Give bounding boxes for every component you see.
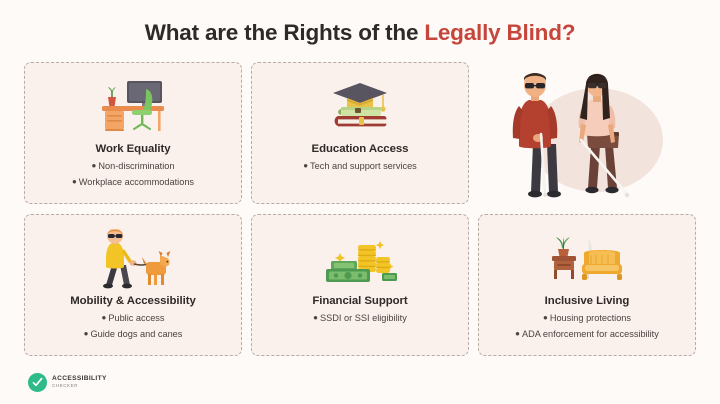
bullet-item: ●Guide dogs and canes	[33, 328, 233, 341]
bullet-text: Workplace accommodations	[79, 177, 194, 187]
card-bullets: ●Housing protections ●ADA enforcement fo…	[487, 312, 687, 345]
card-bullets: ●Public access ●Guide dogs and canes	[33, 312, 233, 345]
armchair-lamp-plant-icon	[544, 227, 630, 289]
bullet-text: Public access	[108, 313, 164, 323]
bullet-item: ●Public access	[33, 312, 233, 325]
bullet-dot: ●	[92, 160, 97, 172]
card-title: Education Access	[312, 143, 409, 155]
card-inclusive-living[interactable]: Inclusive Living ●Housing protections ●A…	[478, 214, 696, 356]
bullet-dot: ●	[303, 160, 308, 172]
bullet-item: ●Non-discrimination	[33, 160, 233, 173]
blind-couple-with-canes-illustration	[478, 62, 696, 204]
brand-logo[interactable]: ACCESSIBILITY CHECKER	[28, 373, 107, 392]
bullet-text: Tech and support services	[310, 161, 417, 171]
page-title-container: What are the Rights of the Legally Blind…	[0, 20, 720, 46]
check-circle-icon	[28, 373, 47, 392]
bullet-text: Housing protections	[550, 313, 631, 323]
bullet-item: ●Tech and support services	[260, 160, 460, 173]
infographic-page: What are the Rights of the Legally Blind…	[0, 0, 720, 404]
graduation-cap-books-icon	[325, 75, 395, 137]
card-bullets: ●SSDI or SSI eligibility	[260, 312, 460, 328]
bullet-dot: ●	[72, 176, 77, 188]
money-coins-icon	[318, 227, 402, 289]
bullet-dot: ●	[543, 312, 548, 324]
card-title: Work Equality	[95, 143, 170, 155]
bullet-dot: ●	[313, 312, 318, 324]
bullet-item: ●SSDI or SSI eligibility	[260, 312, 460, 325]
bullet-dot: ●	[515, 328, 520, 340]
card-education-access[interactable]: Education Access ●Tech and support servi…	[251, 62, 469, 204]
bullet-text: Non-discrimination	[98, 161, 174, 171]
card-bullets: ●Tech and support services	[260, 160, 460, 176]
card-title: Financial Support	[312, 295, 407, 307]
bullet-text: ADA enforcement for accessibility	[522, 329, 659, 339]
brand-logo-text: ACCESSIBILITY CHECKER	[52, 376, 107, 389]
guide-dog-walker-icon	[92, 227, 174, 289]
card-work-equality[interactable]: Work Equality ●Non-discrimination ●Workp…	[24, 62, 242, 204]
card-title: Inclusive Living	[545, 295, 630, 307]
bullet-item: ●Housing protections	[487, 312, 687, 325]
page-title: What are the Rights of the Legally Blind…	[0, 20, 720, 46]
card-bullets: ●Non-discrimination ●Workplace accommoda…	[33, 160, 233, 193]
page-title-accent: Legally Blind?	[424, 20, 575, 45]
page-title-main: What are the Rights of the	[145, 20, 425, 45]
bullet-dot: ●	[84, 328, 89, 340]
bullet-text: Guide dogs and canes	[90, 329, 182, 339]
bullet-item: ●ADA enforcement for accessibility	[487, 328, 687, 341]
bullet-text: SSDI or SSI eligibility	[320, 313, 407, 323]
bullet-item: ●Workplace accommodations	[33, 176, 233, 189]
desk-workstation-icon	[94, 75, 172, 137]
rights-card-grid: Work Equality ●Non-discrimination ●Workp…	[24, 62, 696, 356]
bullet-dot: ●	[101, 312, 106, 324]
card-mobility-accessibility[interactable]: Mobility & Accessibility ●Public access …	[24, 214, 242, 356]
brand-subtitle: CHECKER	[52, 384, 107, 389]
card-title: Mobility & Accessibility	[70, 295, 196, 307]
blind-couple-illustration-panel	[478, 62, 696, 204]
card-financial-support[interactable]: Financial Support ●SSDI or SSI eligibili…	[251, 214, 469, 356]
brand-name: ACCESSIBILITY	[52, 376, 107, 383]
